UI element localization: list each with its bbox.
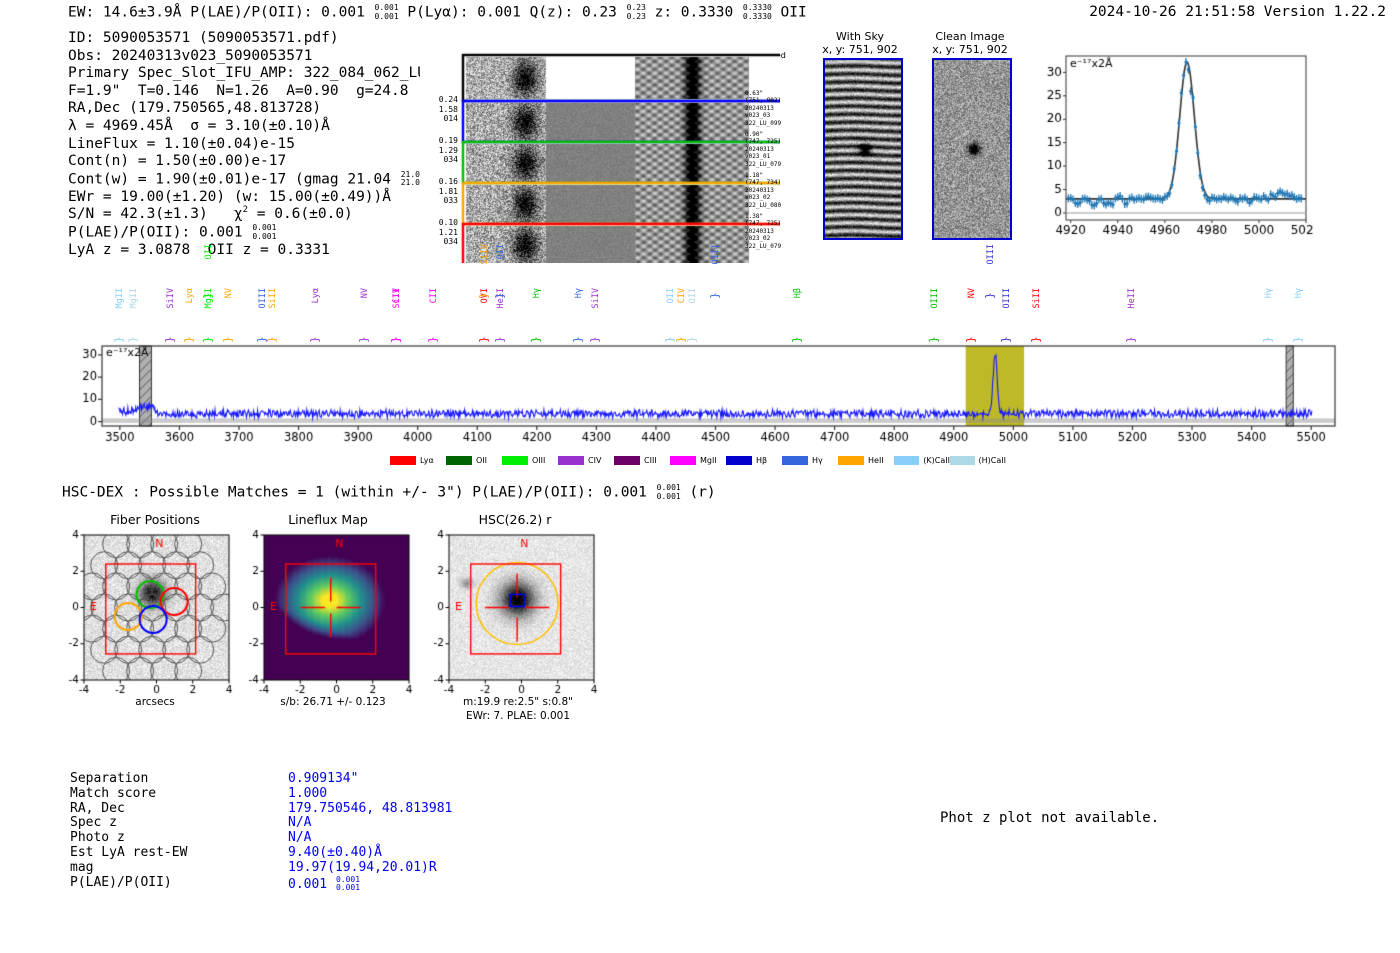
info-line-lineflux: LineFlux = 1.10(±0.04)e-15: [68, 136, 451, 154]
legend-item: CIII: [614, 452, 670, 468]
spectrum-legend: LyαOIIOIIICIVCIIIMgIIHβHγHeII(K)CaII(H)C…: [390, 452, 1010, 468]
legend-label: MgII: [700, 456, 717, 465]
match-row-value: N/A: [288, 831, 311, 846]
legend-swatch: [838, 456, 864, 465]
legend-label: (H)CaII: [979, 456, 1006, 465]
match-row-key: Separation: [70, 772, 148, 787]
cutout-right-label-3: 1.38" (747, 725) 20240313 v023_02 322_LU…: [745, 213, 781, 250]
legend-label: HeII: [868, 456, 884, 465]
legend-item: (K)CaII: [894, 452, 950, 468]
info-line-cont-n: Cont(n) = 1.50(±0.00)e-17: [68, 153, 451, 171]
match-row-key: Photo z: [70, 831, 125, 846]
hsc-image-panel: [423, 527, 613, 712]
legend-label: CIV: [588, 456, 601, 465]
info-line-plae: P(LAE)/P(OII): 0.001 0.0010.001: [68, 224, 451, 242]
match-row-value: 1.000: [288, 787, 327, 802]
info-plae-fraction: 0.0010.001: [252, 224, 276, 241]
cutout-left-label-1: 0.19 1.29 034: [432, 136, 458, 165]
legend-label: Lyα: [420, 456, 434, 465]
match-row-value: 0.909134": [288, 772, 358, 787]
match-row-key: Match score: [70, 787, 156, 802]
legend-swatch: [558, 456, 584, 465]
legend-item: CIV: [558, 452, 614, 468]
info-line-obs: Obs: 20240313v023_5090053571: [68, 48, 451, 66]
summary-qz: P(Lyα): 0.001 Q(z): 0.23: [399, 5, 626, 21]
two-d-spectrum-canvas: [420, 28, 780, 263]
legend-item: OIII: [502, 452, 558, 468]
legend-item: (H)CaII: [950, 452, 1006, 468]
cutout-right-label-0: 0.63" (751, 902) 20240313 v023_03 322_LU…: [745, 90, 781, 127]
legend-item: Hγ: [782, 452, 838, 468]
legend-label: OII: [476, 456, 487, 465]
match-row-key: P(LAE)/P(OII): [70, 876, 172, 891]
cutout-right-label-2: 1.18" (747, 734) 20240313 v023_02 322_LU…: [745, 172, 781, 209]
stamp-title-clean-image: Clean Image: [925, 30, 1015, 43]
hscdex-plae-fraction: 0.0010.001: [657, 484, 681, 501]
legend-item: OII: [446, 452, 502, 468]
legend-label: OIII: [532, 456, 545, 465]
panel-title-hsc-r: HSC(26.2) r: [425, 512, 605, 527]
info-line-radec: RA,Dec (179.750565,48.813728): [68, 100, 451, 118]
cutout-left-label-0: 0.24 1.58 014: [432, 95, 458, 124]
fiber-positions-panel: [58, 527, 248, 712]
legend-item: Hβ: [726, 452, 782, 468]
match-plae-fraction: 0.0010.001: [336, 876, 360, 893]
stamp-subtitle-clean-image: x, y: 751, 902: [922, 43, 1018, 56]
source-info-block: ID: 5090053571 (5090053571.pdf) Obs: 202…: [68, 30, 451, 260]
legend-swatch: [726, 456, 752, 465]
cutout-right-label-1: 0.90" (747, 725) 20240313 v023_01 322_LU…: [745, 131, 781, 168]
hsc-mag-label: m:19.9 re:2.5" s:0.8": [420, 696, 616, 708]
match-row-value: 9.40(±0.40)Å: [288, 846, 382, 861]
qz-fraction: 0.230.23: [627, 4, 646, 21]
match-row-value: 179.750546, 48.813981: [288, 802, 452, 817]
info-line-snr: S/N = 42.3(±1.3) χ2 = 0.6(±0.0): [68, 206, 451, 224]
match-row-value: 0.001 0.0010.001: [288, 876, 360, 893]
info-line-cont-w: Cont(w) = 1.90(±0.01)e-17 (gmag 21.04 21…: [68, 171, 451, 189]
match-row-key: Spec z: [70, 816, 117, 831]
info-line-ewr: EWr = 19.00(±1.20) (w: 15.00(±0.49))Å: [68, 189, 451, 207]
info-line-redshifts: LyA z = 3.0878 OII z = 0.3331: [68, 242, 451, 260]
cutout-left-label-3: 0.10 1.21 034: [432, 218, 458, 247]
legend-label: Hγ: [812, 456, 823, 465]
stamp-title-with-sky: With Sky: [820, 30, 900, 43]
legend-swatch: [446, 456, 472, 465]
legend-swatch: [950, 456, 975, 465]
plae-ratio-fraction: 0.0010.001: [375, 4, 399, 21]
photz-message: Phot z plot not available.: [940, 810, 1159, 826]
legend-item: Lyα: [390, 452, 446, 468]
summary-header: EW: 14.6±3.9Å P(LAE)/P(OII): 0.001 0.001…: [68, 4, 807, 21]
legend-swatch: [614, 456, 640, 465]
info-line-lambda: λ = 4969.45Å σ = 3.10(±0.10)Å: [68, 118, 451, 136]
panel-title-fiber-positions: Fiber Positions: [60, 512, 250, 527]
axis-label-arcsecs: arcsecs: [60, 696, 250, 708]
stamp-subtitle-with-sky: x, y: 751, 902: [812, 43, 908, 56]
summary-classification: OII: [772, 5, 807, 21]
info-line-slot: Primary Spec_Slot_IFU_AMP: 322_084_062_L…: [68, 65, 451, 83]
lineflux-map-panel: [238, 527, 428, 712]
line-fit-plot: [1028, 44, 1314, 262]
summary-z: z: 0.3330: [646, 5, 742, 21]
hsc-ewr-plae-label: EWr: 7. PLAE: 0.001: [420, 710, 616, 722]
panel-title-lineflux-map: Lineflux Map: [240, 512, 416, 527]
clean-image-stamp: [932, 58, 1012, 240]
legend-swatch: [390, 456, 416, 465]
match-row-key: Est LyA rest-EW: [70, 846, 187, 861]
info-line-id: ID: 5090053571 (5090053571.pdf): [68, 30, 451, 48]
lineflux-sb-label: s/b: 26.71 +/- 0.123: [238, 696, 428, 708]
legend-label: Hβ: [756, 456, 767, 465]
legend-label: (K)CaII: [923, 456, 950, 465]
summary-ew: EW: 14.6±3.9Å P(LAE)/P(OII): 0.001: [68, 5, 374, 21]
hsc-dex-match-line: HSC-DEX : Possible Matches = 1 (within +…: [62, 484, 716, 501]
match-row-value: N/A: [288, 816, 311, 831]
match-row-key: mag: [70, 861, 93, 876]
emission-line-label: OIII: [986, 244, 996, 264]
legend-swatch: [502, 456, 528, 465]
legend-item: HeII: [838, 452, 894, 468]
match-row-key: RA, Dec: [70, 802, 125, 817]
legend-swatch: [670, 456, 696, 465]
cutout-left-label-2: 0.16 1.81 033: [432, 177, 458, 206]
legend-swatch: [894, 456, 919, 465]
z-fraction: 0.33300.3330: [743, 4, 772, 21]
legend-item: MgII: [670, 452, 726, 468]
legend-swatch: [782, 456, 808, 465]
with-sky-stamp: [823, 58, 903, 240]
info-line-seeing: F=1.9" T=0.146 N=1.26 A=0.90 g=24.8: [68, 83, 451, 101]
legend-label: CIII: [644, 456, 657, 465]
full-spectrum-plot: [50, 268, 1390, 468]
match-row-value: 19.97(19.94,20.01)R: [288, 861, 437, 876]
timestamp-version: 2024-10-26 21:51:58 Version 1.22.2: [1089, 4, 1386, 20]
